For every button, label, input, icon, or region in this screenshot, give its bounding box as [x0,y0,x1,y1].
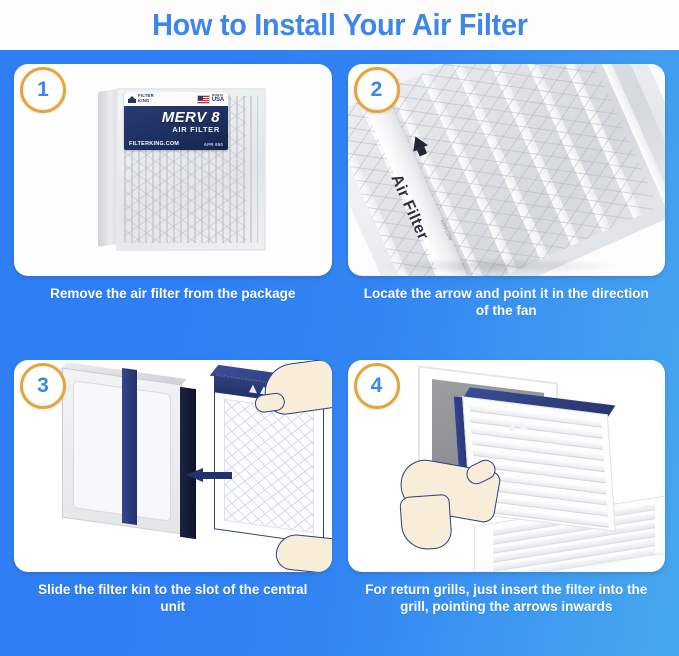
air-filter-product-photo: FILTER KING MADE IN USA [98,88,266,251]
filter-label-footer: FILTERKING.COM APR 650 [129,141,223,147]
filter-panel-media [224,399,314,534]
step-2-caption: Locate the arrow and point it in the dir… [348,276,666,320]
insert-direction-arrow-icon [186,468,232,481]
merv-rating: MERV 8 [124,109,220,126]
filter-king-logo: FILTER KING [128,94,154,103]
step-3-number-badge: 3 [20,363,66,409]
made-in-usa-badge: MADE IN USA [197,95,224,104]
filter-drop-shadow [378,258,618,274]
made-in-usa-text: MADE IN USA [212,95,224,104]
step-1-caption: Remove the air filter from the package [14,276,332,302]
steps-grid: FILTER KING MADE IN USA [0,50,679,656]
country-label: USA [212,97,224,103]
brand-line-2: KING [138,98,150,103]
brand-text: FILTER KING [138,94,154,103]
usa-flag-icon [197,95,210,104]
hand-upper-icon [261,360,332,417]
step-2-number-badge: 2 [354,67,400,113]
filter-label-header: FILTER KING MADE IN USA [124,92,228,106]
central-unit-dark-side [180,387,196,539]
arrow-head [186,468,203,482]
step-4: 4 For return grills, just insert the fil… [348,360,666,652]
filter-label: FILTER KING MADE IN USA [124,92,228,150]
title-band: How to Install Your Air Filter [0,0,679,50]
step-1: FILTER KING MADE IN USA [14,64,332,356]
product-type-label: AIR FILTER [124,125,220,134]
infographic-root: How to Install Your Air Filter [0,0,679,656]
website-label: FILTERKING.COM [129,141,179,147]
step-3: 3 Slide the filter kin to the slot of th… [14,360,332,652]
page-title: How to Install Your Air Filter [152,7,528,43]
step-3-caption: Slide the filter kin to the slot of the … [14,572,332,616]
filter-right-edge [122,368,137,525]
step-4-number-badge: 4 [354,363,400,409]
step-4-caption: For return grills, just insert the filte… [348,572,666,616]
crown-icon [128,96,136,103]
step-2: Air Filter AIRFLOW 2 Locate the arrow an… [348,64,666,356]
step-1-number-badge: 1 [20,67,66,113]
arrow-shaft [202,472,232,479]
apr-rating-label: APR 650 [204,142,223,147]
hand-lower-icon [274,533,331,572]
